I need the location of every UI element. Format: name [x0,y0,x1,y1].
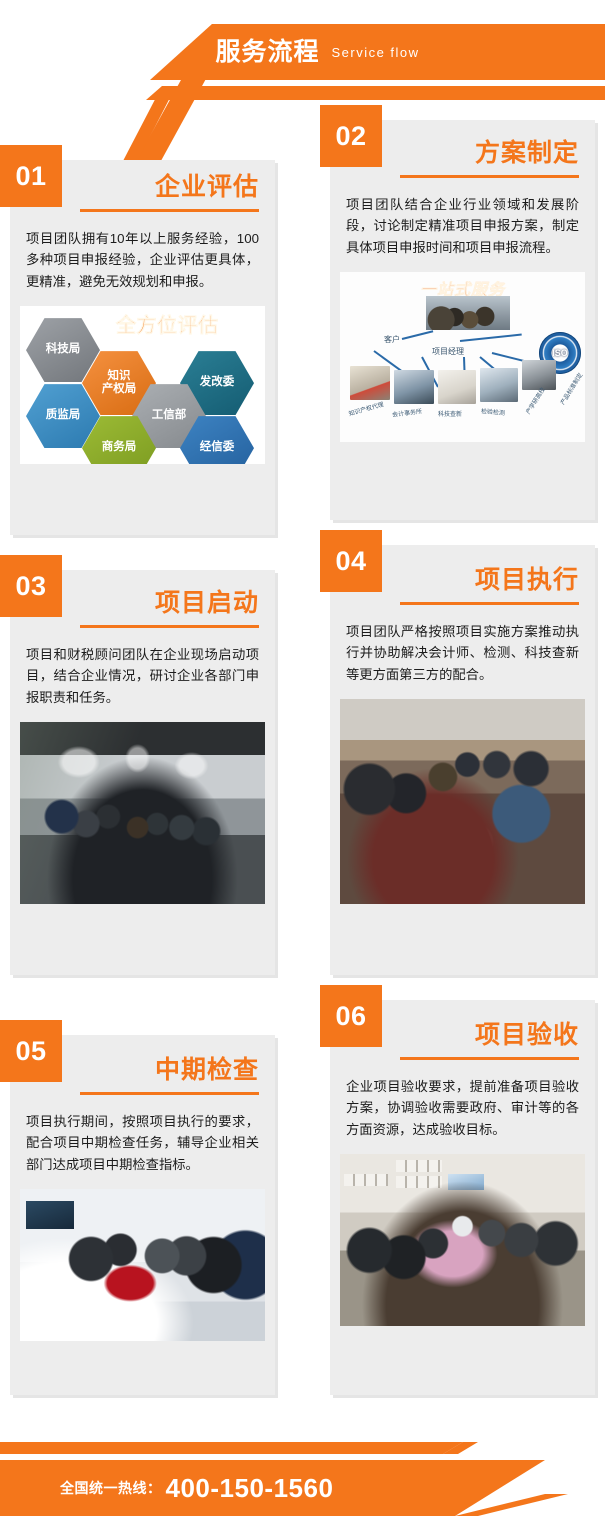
all-round-assessment-diagram: 全方位评估 科技局 知识 产权局 发改委 质监局 工信部 商务局 经信委 [20,306,265,464]
svc-label-testing: 检验检测 [481,406,506,417]
svc-label-search: 科技查新 [438,409,462,418]
step-badge-03: 03 [0,555,62,617]
svc-arrow [460,334,522,342]
photo-conference-room-meeting [20,722,265,904]
photo-showroom-site-visit [20,1189,265,1341]
step-badge-06: 06 [320,985,382,1047]
hotline-number[interactable]: 400-150-1560 [166,1473,334,1504]
card-body-03: 项目和财税顾问团队在企业现场启动项目，结合企业情况，研讨企业各部门申报职责和任务… [10,628,275,723]
card-body-01: 项目团队拥有10年以上服务经验，100多种项目申报经验，企业评估更具体，更精准，… [10,212,275,307]
svc-meeting-thumb [426,296,510,330]
svc-label-accounting: 会计事务所 [392,406,423,419]
hex-label: 工信部 [152,409,187,422]
step-card-05: 中期检查 项目执行期间，按照项目执行的要求，配合项目中期检查任务，辅导企业相关部… [10,1035,275,1395]
service-flow-infographic: 服务流程 Service flow 企业评估 项目团队拥有10年以上服务经验，1… [0,0,605,1538]
header-orange-bar-thin [0,86,605,100]
svc-node-customer: 客户 [384,334,400,345]
card-body-02: 项目团队结合企业行业领域和发展阶段，讨论制定精准项目申报方案，制定具体项目申报时… [330,178,595,273]
step-card-03: 项目启动 项目和财税顾问团队在企业现场启动项目，结合企业情况，研讨企业各部门申报… [10,570,275,975]
svc-thumb-accounting [394,370,434,404]
header-banner: 服务流程 Service flow [0,0,605,140]
hex-label: 科技局 [46,343,81,356]
page-subtitle: Service flow [331,46,419,59]
hex-label: 发改委 [200,376,235,389]
svc-thumb-ip [350,366,390,400]
step-badge-01: 01 [0,145,62,207]
svc-thumb-testing [480,368,518,402]
step-card-02: 方案制定 项目团队结合企业行业领域和发展阶段，讨论制定精准项目申报方案，制定具体… [330,120,595,520]
svc-node-manager: 项目经理 [432,346,464,357]
hex-label: 商务局 [102,441,137,454]
photo-team-working-at-table [340,699,585,904]
svc-thumb-search [438,370,476,404]
step-badge-02: 02 [320,105,382,167]
step-card-06: 项目验收 企业项目验收要求，提前准备项目验收方案，协调验收需要政府、审计等的各方… [330,1000,595,1395]
step-badge-04: 04 [320,530,382,592]
svc-label-ip: 知识产权代理 [347,399,384,418]
one-stop-service-diagram: 一站式服务 客户 项目经理 知识产权代理 会计事务所 科技查新 检验检测 产学研… [340,272,585,442]
hex-diagram-title: 全方位评估 [116,309,219,338]
hotline-group: 全国统一热线： 400-150-1560 [0,1460,605,1516]
svc-arrow [402,330,434,340]
hotline-label: 全国统一热线： [60,1478,162,1498]
page-title: 服务流程 [215,40,319,65]
footer-banner: 全国统一热线： 400-150-1560 [0,1428,605,1538]
card-body-04: 项目团队严格按照项目实施方案推动执行并协助解决会计师、检测、科技查新等更方面第三… [330,605,595,700]
header-title-group: 服务流程 Service flow [0,24,605,80]
svc-label-standard: 产品标准制定 [558,371,585,406]
photo-large-conference-presentation [340,1154,585,1326]
hex-label: 质监局 [46,409,81,422]
card-body-06: 企业项目验收要求，提前准备项目验收方案，协调验收需要政府、审计等的各方面资源，达… [330,1060,595,1155]
step-card-04: 项目执行 项目团队严格按照项目实施方案推动执行并协助解决会计师、检测、科技查新等… [330,545,595,975]
hex-label: 经信委 [200,441,235,454]
footer-orange-bar-thin [0,1442,605,1454]
card-body-05: 项目执行期间，按照项目执行的要求，配合项目中期检查任务，辅导企业相关部门达成项目… [10,1095,275,1190]
hex-label: 知识 产权局 [102,370,137,396]
step-badge-05: 05 [0,1020,62,1082]
step-card-01: 企业评估 项目团队拥有10年以上服务经验，100多种项目申报经验，企业评估更具体… [10,160,275,535]
